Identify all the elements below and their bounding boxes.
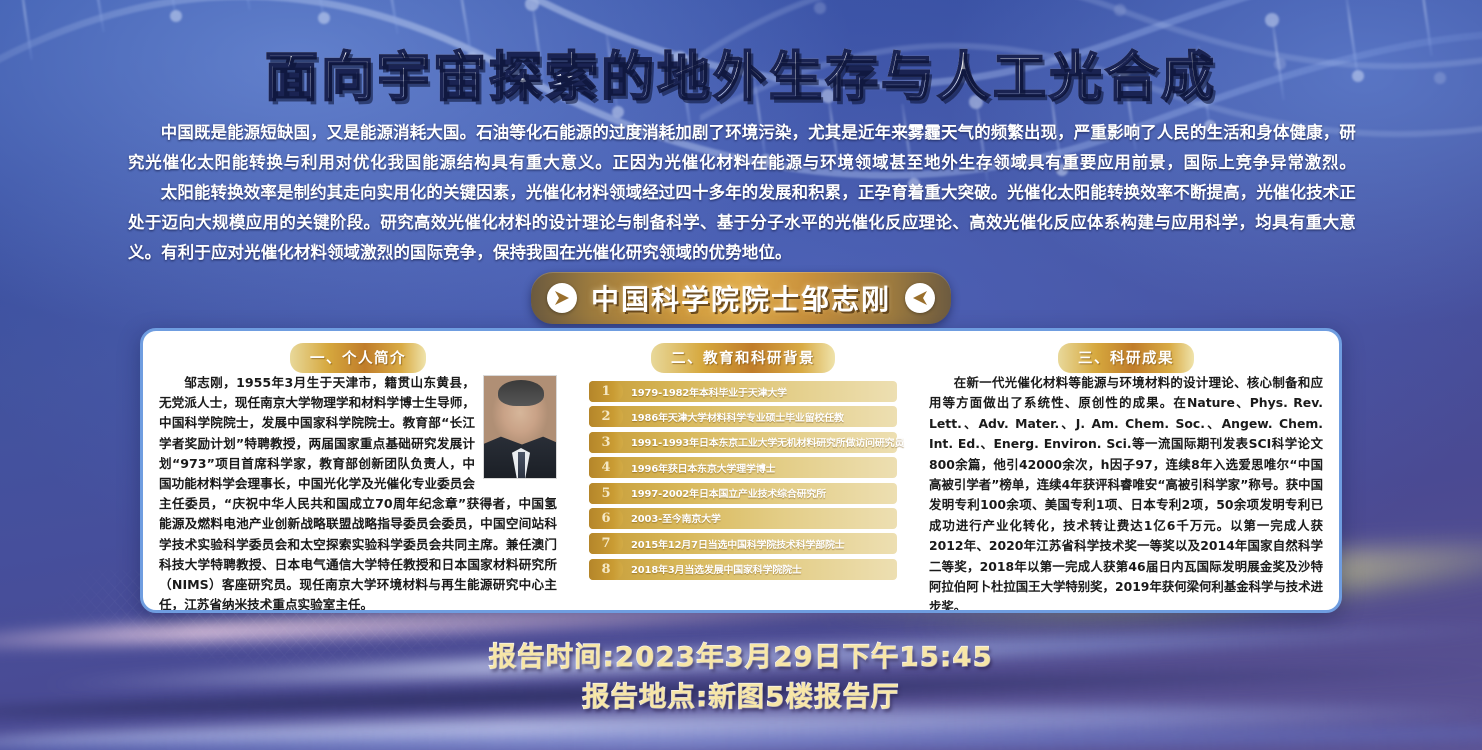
list-item: 5 1997-2002年日本国立产业技术综合研究所	[589, 483, 897, 504]
biography-heading-wrap: 一、个人简介	[159, 343, 557, 373]
section-education: 二、教育和科研背景 1 1979-1982年本科毕业于天津大学 2 1986年天…	[573, 331, 913, 610]
list-item-number: 6	[589, 508, 623, 529]
lecture-time: 报告时间:2023年3月29日下午15:45	[0, 638, 1482, 678]
list-item: 7 2015年12月7日当选中国科学院技术科学部院士	[589, 533, 897, 554]
poster-title-wrap: 面向宇宙探索的地外生存与人工光合成	[0, 48, 1482, 107]
footer-info: 报告时间:2023年3月29日下午15:45 报告地点:新图5楼报告厅	[0, 638, 1482, 718]
list-item: 8 2018年3月当选发展中国家科学院院士	[589, 559, 897, 580]
achievements-text: 在新一代光催化材料等能源与环境材料的设计理论、核心制备和应用等方面做出了系统性、…	[929, 373, 1323, 613]
list-item-number: 5	[589, 483, 623, 504]
list-item-number: 1	[589, 381, 623, 402]
abstract-paragraph-2: 太阳能转换效率是制约其走向实用化的关键因素，光催化材料领域经过四十多年的发展和积…	[128, 178, 1356, 268]
speaker-name: 中国科学院院士邹志刚	[591, 278, 891, 318]
list-item-label: 1996年获日本东京大学理学博士	[631, 461, 775, 475]
speaker-banner: 中国科学院院士邹志刚	[531, 272, 951, 324]
section-achievements: 三、科研成果 在新一代光催化材料等能源与环境材料的设计理论、核心制备和应用等方面…	[913, 331, 1339, 610]
list-item-number: 8	[589, 559, 623, 580]
list-item-label: 1997-2002年日本国立产业技术综合研究所	[631, 486, 826, 500]
list-item-number: 4	[589, 457, 623, 478]
education-timeline: 1 1979-1982年本科毕业于天津大学 2 1986年天津大学材料科学专业硕…	[589, 381, 897, 580]
abstract-text: 中国既是能源短缺国，又是能源消耗大国。石油等化石能源的过度消耗加剧了环境污染，尤…	[128, 118, 1356, 268]
education-heading-wrap: 二、教育和科研背景	[589, 343, 897, 373]
list-item-number: 2	[589, 406, 623, 427]
lecture-poster: 面向宇宙探索的地外生存与人工光合成 中国既是能源短缺国，又是能源消耗大国。石油等…	[0, 0, 1482, 750]
section-biography: 一、个人简介 邹志刚，1955年3月生于天津市，籍贯山东黄县，无党派人士，现任南…	[143, 331, 573, 610]
abstract-paragraph-1: 中国既是能源短缺国，又是能源消耗大国。石油等化石能源的过度消耗加剧了环境污染，尤…	[128, 118, 1356, 178]
list-item-label: 2018年3月当选发展中国家科学院院士	[631, 562, 802, 576]
list-item: 6 2003-至今南京大学	[589, 508, 897, 529]
list-item: 2 1986年天津大学材料科学专业硕士毕业留校任教	[589, 406, 897, 427]
biography-body: 邹志刚，1955年3月生于天津市，籍贯山东黄县，无党派人士，现任南京大学物理学和…	[159, 373, 557, 613]
page-title: 面向宇宙探索的地外生存与人工光合成	[265, 48, 1217, 107]
list-item: 3 1991-1993年日本东京工业大学无机材料研究所做访问研究员	[589, 432, 897, 453]
achievements-heading: 三、科研成果	[1058, 343, 1194, 373]
play-triangle-right-icon	[547, 283, 577, 313]
list-item-label: 1991-1993年日本东京工业大学无机材料研究所做访问研究员	[631, 435, 904, 449]
list-item-number: 7	[589, 533, 623, 554]
education-heading: 二、教育和科研背景	[651, 343, 835, 373]
list-item-number: 3	[589, 432, 623, 453]
list-item: 4 1996年获日本东京大学理学博士	[589, 457, 897, 478]
list-item: 1 1979-1982年本科毕业于天津大学	[589, 381, 897, 402]
achievements-body: 在新一代光催化材料等能源与环境材料的设计理论、核心制备和应用等方面做出了系统性、…	[929, 373, 1323, 613]
biography-heading: 一、个人简介	[290, 343, 426, 373]
content-card: 一、个人简介 邹志刚，1955年3月生于天津市，籍贯山东黄县，无党派人士，现任南…	[140, 328, 1342, 613]
lecture-place: 报告地点:新图5楼报告厅	[0, 678, 1482, 718]
list-item-label: 1979-1982年本科毕业于天津大学	[631, 385, 787, 399]
list-item-label: 2015年12月7日当选中国科学院技术科学部院士	[631, 537, 845, 551]
list-item-label: 1986年天津大学材料科学专业硕士毕业留校任教	[631, 410, 844, 424]
achievements-heading-wrap: 三、科研成果	[929, 343, 1323, 373]
play-triangle-left-icon	[905, 283, 935, 313]
list-item-label: 2003-至今南京大学	[631, 511, 721, 525]
speaker-portrait	[483, 375, 557, 479]
